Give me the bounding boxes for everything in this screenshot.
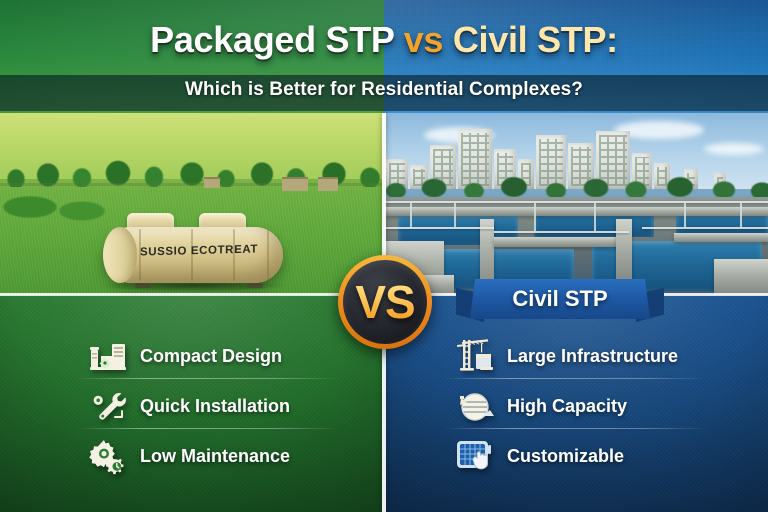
feature-customizable[interactable]: Customizable xyxy=(455,436,624,476)
tank-foot-left xyxy=(135,283,151,288)
rail-post-2 xyxy=(454,201,456,227)
rail-post-6 xyxy=(740,201,742,227)
left-shed-1 xyxy=(282,177,308,191)
title-civil-stp: Civil STP: xyxy=(443,19,618,60)
basin-wall-6 xyxy=(674,233,768,242)
civil-stp-photo xyxy=(384,113,768,295)
feature-label: Quick Installation xyxy=(140,396,290,417)
basin-wall-5 xyxy=(616,219,632,283)
feature-label: Compact Design xyxy=(140,346,282,367)
feature-label: Low Maintenance xyxy=(140,446,290,467)
feature-high-capacity[interactable]: High Capacity xyxy=(455,386,627,426)
feature-label: High Capacity xyxy=(507,396,627,417)
left-shed-2 xyxy=(318,177,338,191)
feature-quick-installation[interactable]: Quick Installation xyxy=(88,386,290,426)
left-separator-1 xyxy=(76,378,340,379)
rail-post-3 xyxy=(534,201,536,231)
right-separator-2 xyxy=(443,428,707,429)
title-packaged-stp: Packaged STP xyxy=(150,19,404,60)
vs-label: VS xyxy=(338,255,432,349)
handrail-3 xyxy=(494,231,629,233)
feature-compact-design[interactable]: Compact Design xyxy=(88,336,282,376)
right-separator-1 xyxy=(443,378,707,379)
handrail-4 xyxy=(642,227,768,229)
tank-foot-right xyxy=(247,283,263,288)
rail-post-4 xyxy=(594,201,596,231)
vs-badge: VS xyxy=(338,255,432,349)
feature-label: Customizable xyxy=(507,446,624,467)
wrench-gear-icon xyxy=(88,386,128,426)
title-vs: vs xyxy=(404,19,443,60)
feature-large-infrastructure[interactable]: Large Infrastructure xyxy=(455,336,678,376)
tank-capacity-icon xyxy=(455,386,495,426)
packaged-stp-photo: SUSSIO ECOTREAT xyxy=(0,113,384,295)
infographic-canvas: Packaged STP vs Civil STP: Which is Bett… xyxy=(0,0,768,512)
crane-icon xyxy=(455,336,495,376)
left-horizontal-divider xyxy=(0,293,384,296)
customize-screen-icon xyxy=(455,436,495,476)
factory-icon xyxy=(88,336,128,376)
feature-low-maintenance[interactable]: Low Maintenance xyxy=(88,436,290,476)
page-subtitle: Which is Better for Residential Complexe… xyxy=(0,79,768,101)
rail-post-5 xyxy=(684,201,686,227)
civil-stp-ribbon: Civil STP xyxy=(464,279,656,319)
basin-wall-4 xyxy=(494,237,624,247)
ribbon-label: Civil STP xyxy=(470,286,650,312)
basin-wall-7 xyxy=(714,259,768,295)
gears-icon xyxy=(88,436,128,476)
handrail-1 xyxy=(384,201,768,203)
handrail-2 xyxy=(384,227,494,229)
page-title: Packaged STP vs Civil STP: xyxy=(0,18,768,62)
basin-wall-1 xyxy=(384,207,768,216)
left-shed-3 xyxy=(204,177,220,188)
packaged-tank: SUSSIO ECOTREAT xyxy=(95,213,290,291)
left-separator-2 xyxy=(76,428,340,429)
feature-label: Large Infrastructure xyxy=(507,346,678,367)
rail-post-1 xyxy=(410,201,412,227)
